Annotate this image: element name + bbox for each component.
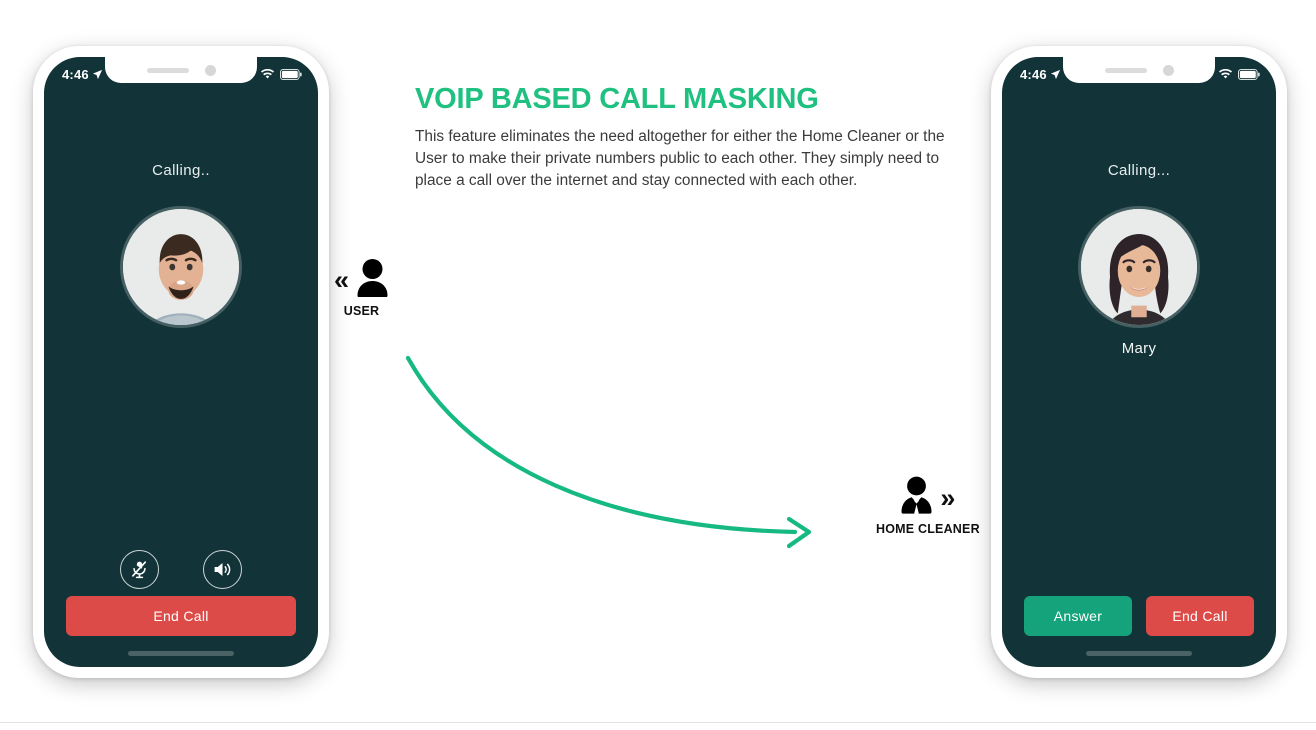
slide-canvas: 4:46: [0, 0, 1316, 730]
call-action-buttons-left: End Call: [66, 596, 296, 636]
caller-avatar-left: [123, 209, 239, 325]
actor-user: « USER: [334, 258, 389, 318]
front-camera-icon: [1163, 65, 1174, 76]
actor-user-label: USER: [344, 304, 380, 318]
female-avatar: [1081, 209, 1197, 325]
footer-divider: [0, 722, 1316, 723]
home-indicator: [128, 651, 234, 656]
caller-name-right: Mary: [1002, 340, 1276, 357]
battery-icon: [280, 69, 302, 80]
wifi-icon: [260, 68, 275, 80]
battery-icon: [1238, 69, 1260, 80]
wifi-icon: [1218, 68, 1233, 80]
actor-home-cleaner: » HOME CLEANER: [876, 476, 980, 536]
caller-avatar-right: [1081, 209, 1197, 325]
phone-notch: [1063, 57, 1215, 83]
page-title: VOIP BASED CALL MASKING: [415, 84, 971, 116]
call-status-text-right: Calling...: [1002, 162, 1276, 179]
actor-user-row: «: [334, 258, 389, 302]
mute-button[interactable]: [120, 550, 159, 589]
end-call-button[interactable]: End Call: [1146, 596, 1254, 636]
location-arrow-icon: [92, 69, 103, 80]
page-description: This feature eliminates the need altoget…: [415, 126, 971, 192]
actor-home-cleaner-row: »: [900, 476, 955, 520]
status-time-group: 4:46: [1020, 67, 1061, 82]
answer-button[interactable]: Answer: [1024, 596, 1132, 636]
location-arrow-icon: [1050, 69, 1061, 80]
phone-mockup-left: 4:46: [33, 46, 329, 678]
home-indicator: [1086, 651, 1192, 656]
front-camera-icon: [205, 65, 216, 76]
status-time: 4:46: [1020, 67, 1047, 82]
speaker-icon: [212, 559, 233, 580]
status-time-group: 4:46: [62, 67, 103, 82]
call-controls-left: [44, 550, 318, 589]
end-call-button[interactable]: End Call: [66, 596, 296, 636]
phone-screen-right: 4:46: [1002, 57, 1276, 667]
call-action-buttons-right: Answer End Call: [1024, 596, 1254, 636]
actor-home-cleaner-label: HOME CLEANER: [876, 522, 980, 536]
chevron-left-icon: «: [334, 267, 349, 294]
chevron-right-icon: »: [940, 485, 955, 512]
microphone-muted-icon: [129, 559, 150, 580]
earpiece-speaker: [147, 68, 189, 73]
user-person-icon: [356, 258, 389, 302]
male-avatar: [123, 209, 239, 325]
phone-mockup-right: 4:46: [991, 46, 1287, 678]
phone-screen-left: 4:46: [44, 57, 318, 667]
status-time: 4:46: [62, 67, 89, 82]
businessperson-tie-icon: [900, 476, 933, 520]
phone-notch: [105, 57, 257, 83]
earpiece-speaker: [1105, 68, 1147, 73]
description-block: VOIP BASED CALL MASKING This feature eli…: [415, 84, 971, 192]
call-status-text-left: Calling..: [44, 162, 318, 179]
speaker-button[interactable]: [203, 550, 242, 589]
